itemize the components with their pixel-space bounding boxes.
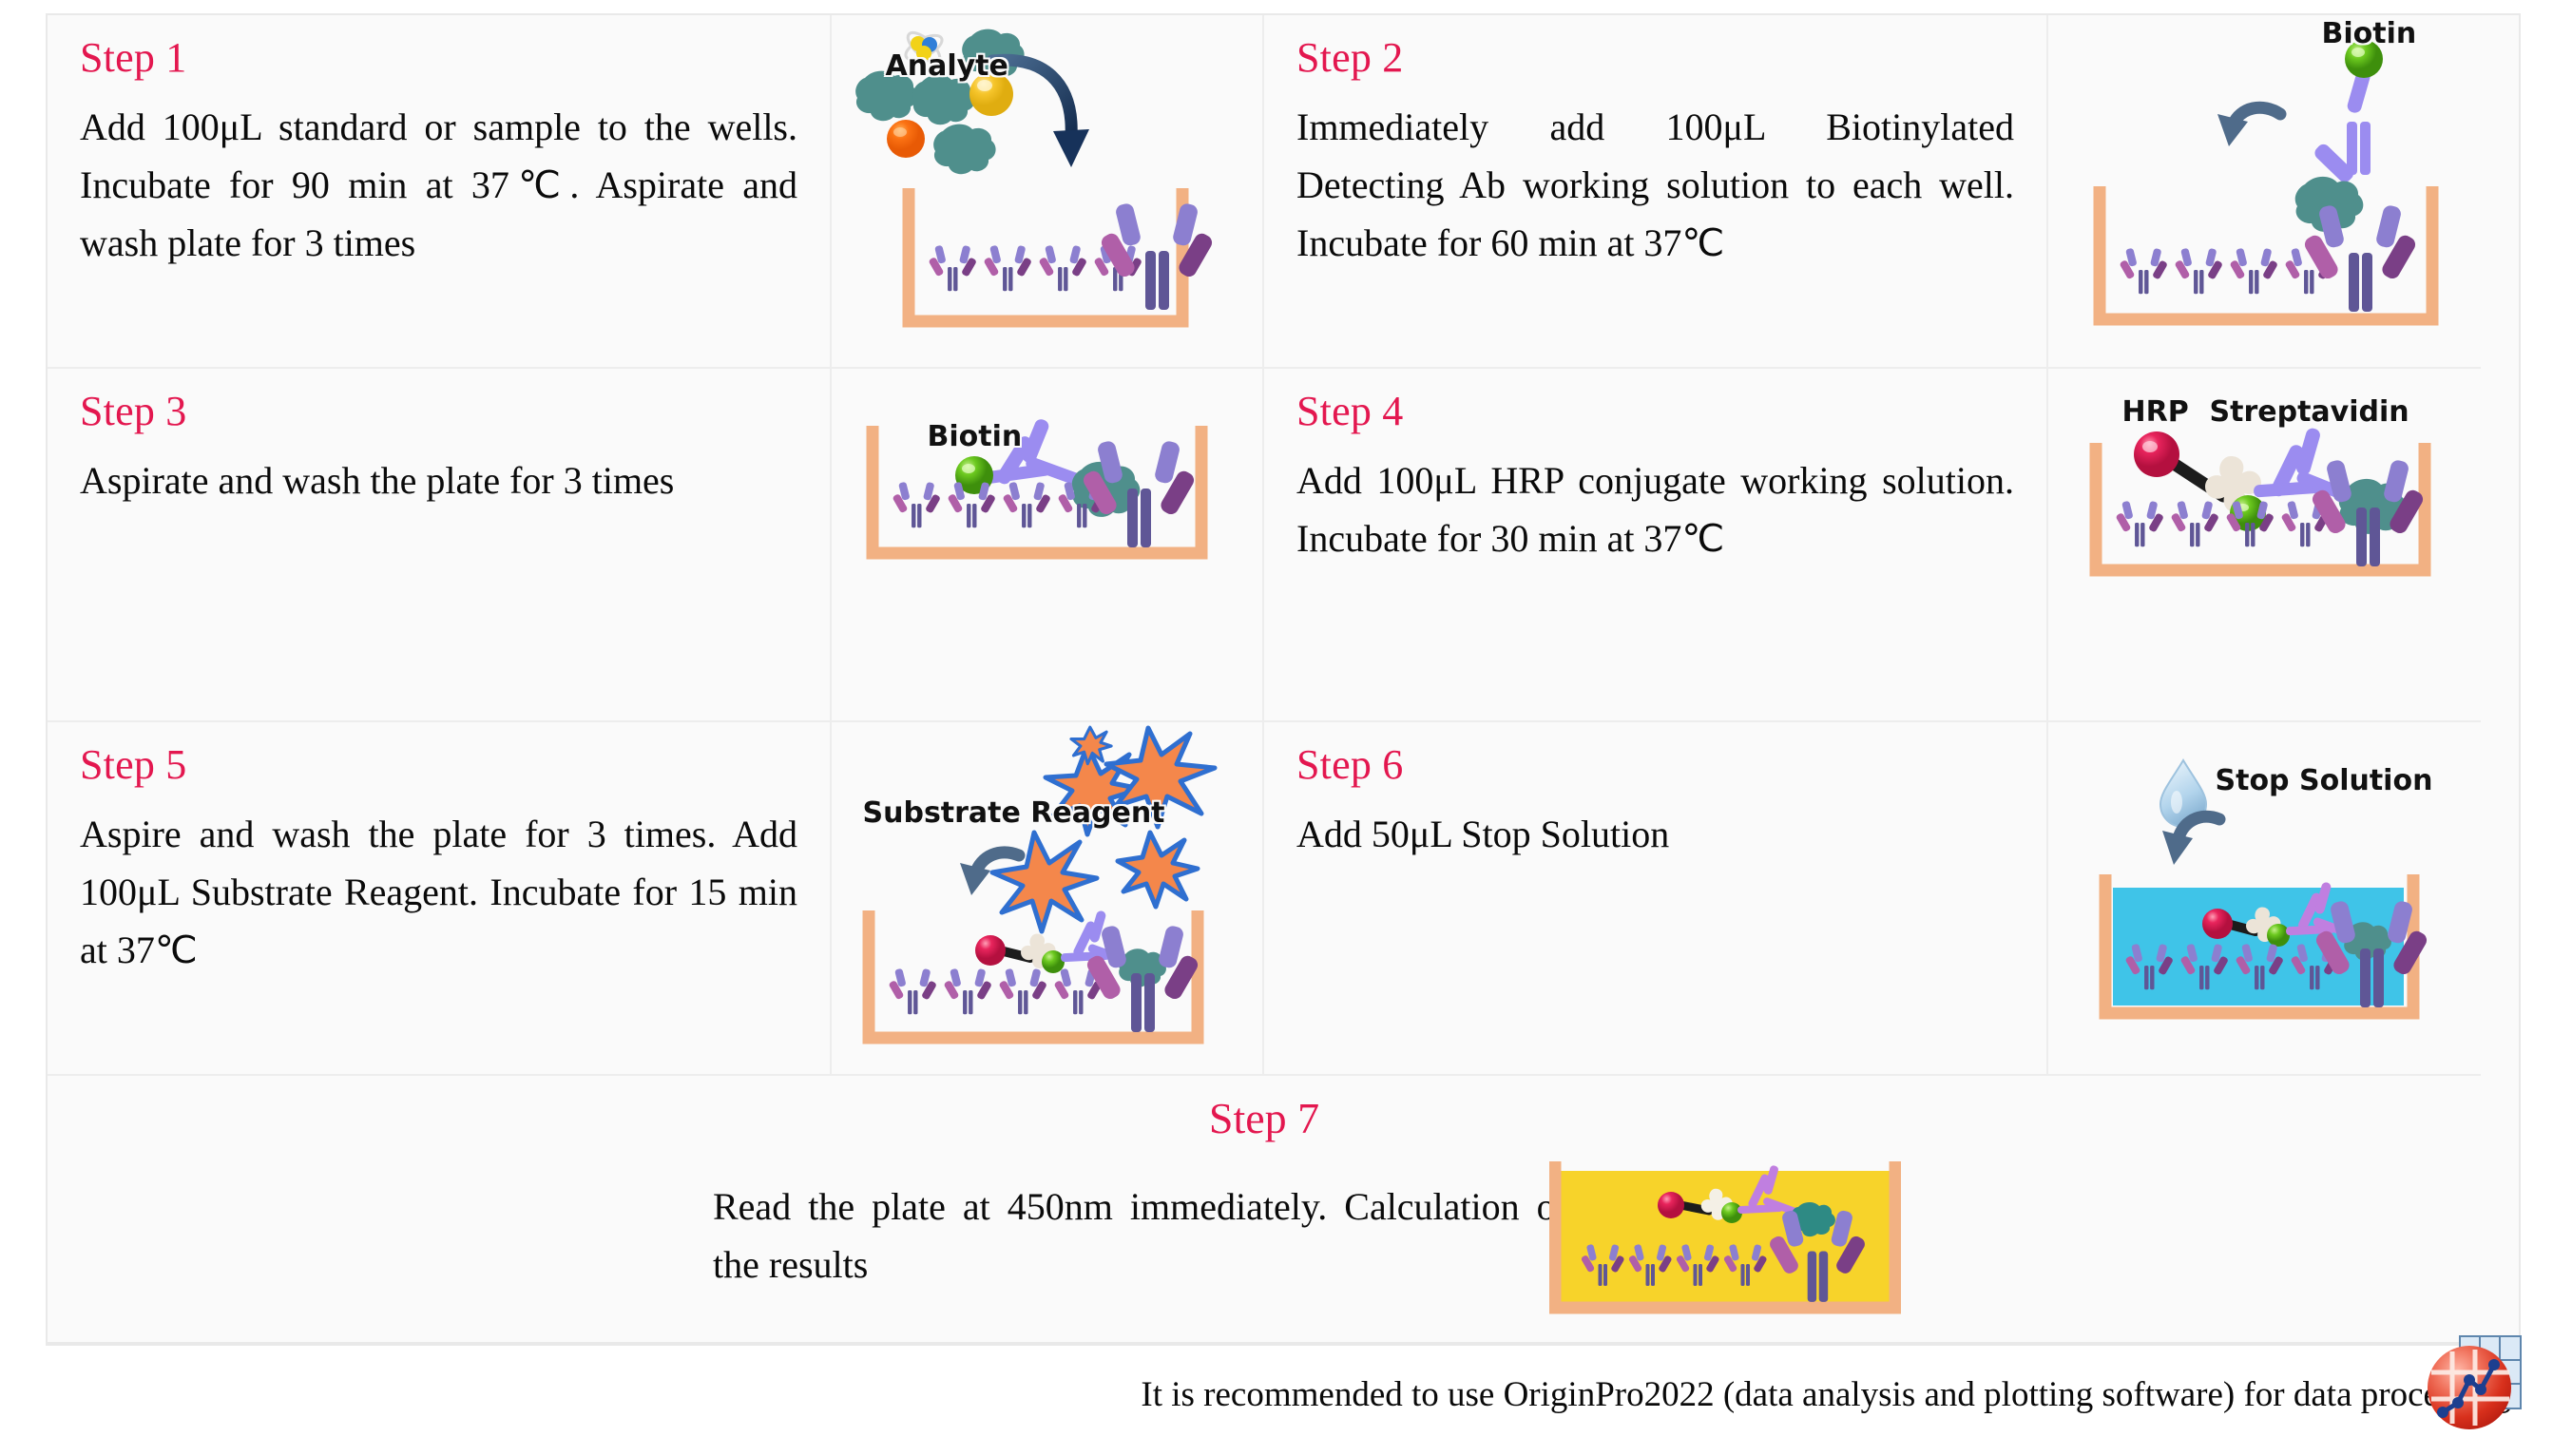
step-4-title: Step 4: [1296, 390, 2014, 433]
hrp-label: HRP: [2122, 395, 2189, 429]
step-5-illustration-cell: Substrate Reagent: [832, 722, 1264, 1076]
step-3-title: Step 3: [80, 390, 797, 433]
step-2-body: Immediately add 100μL Biotinylated Detec…: [1296, 99, 2014, 272]
step-3-svg: [848, 412, 1247, 698]
capture-antibodies: [2119, 204, 2418, 312]
elisa-procedure-sheet: Step 1 Add 100μL standard or sample to t…: [0, 0, 2553, 1456]
analyte-label: Analyte: [886, 49, 1008, 83]
step-2-text-cell: Step 2 Immediately add 100μL Biotinylate…: [1264, 15, 2048, 369]
step-5-svg: [848, 722, 1247, 1076]
step-3-illustration-cell: Biotin: [832, 369, 1264, 722]
substrate-reagent-label: Substrate Reagent: [863, 796, 1165, 830]
step-4-body: Add 100μL HRP conjugate working solution…: [1296, 452, 2014, 568]
step-1-title: Step 1: [80, 36, 797, 80]
step-3-body: Aspirate and wash the plate for 3 times: [80, 452, 797, 510]
curved-left-arrow-icon: [2217, 107, 2280, 146]
step-1-text-cell: Step 1 Add 100μL standard or sample to t…: [48, 15, 832, 369]
hrp-sphere: [975, 935, 1006, 966]
step-2-svg: [2065, 15, 2465, 357]
step-6-svg: [2065, 755, 2465, 1068]
steps-grid: Step 1 Add 100μL standard or sample to t…: [46, 13, 2521, 1344]
stop-solution-label: Stop Solution: [2216, 764, 2433, 797]
step-4-illustration-cell: HRP Streptavidin: [2048, 369, 2481, 722]
plate-reading-illustration: [1549, 1158, 1901, 1320]
step-7-title: Step 7: [48, 1093, 2481, 1143]
step-6-text-cell: Step 6 Add 50μL Stop Solution: [1264, 722, 2048, 1076]
step-2-illustration-cell: Biotin: [2048, 15, 2481, 369]
step-3-text-cell: Step 3 Aspirate and wash the plate for 3…: [48, 369, 832, 722]
step-5-title: Step 5: [80, 743, 797, 787]
footer-note: It is recommended to use OriginPro2022 (…: [1141, 1377, 2521, 1412]
hrp-streptavidin-complex-illustration: HRP Streptavidin: [2065, 409, 2465, 722]
analyte-addition-well-illustration: Analyte: [848, 15, 1247, 357]
substrate-reagent-addition-illustration: Substrate Reagent: [848, 722, 1247, 1076]
hrp-sphere: [2202, 909, 2233, 939]
footer-bar: It is recommended to use OriginPro2022 (…: [46, 1344, 2521, 1443]
biotin-sphere: [2267, 924, 2290, 947]
bound-analyte: [1118, 948, 1165, 987]
step-7-svg: [1549, 1158, 1901, 1315]
biotin-label: Biotin: [928, 420, 1023, 453]
hrp-sphere: [1658, 1192, 1684, 1218]
biotinylated-antibody-addition-illustration: Biotin: [2065, 15, 2465, 357]
biotin-label: Biotin: [2322, 17, 2417, 50]
step-4-text-cell: Step 4 Add 100μL HRP conjugate working s…: [1264, 369, 2048, 722]
streptavidin-label: Streptavidin: [2210, 395, 2409, 429]
step-7-cell: Step 7 Read the plate at 450nm immediate…: [48, 1076, 2481, 1342]
step-6-title: Step 6: [1296, 743, 2014, 787]
capture-antibodies: [892, 440, 1197, 547]
step-6-illustration-cell: Stop Solution: [2048, 722, 2481, 1076]
biotin-bound-complex-illustration: Biotin: [848, 412, 1247, 722]
step-5-text-cell: Step 5 Aspire and wash the plate for 3 t…: [48, 722, 832, 1076]
large-capture-antibody: [1099, 202, 1215, 310]
capture-antibodies: [928, 202, 1215, 310]
step-5-body: Aspire and wash the plate for 3 times. A…: [80, 806, 797, 979]
stop-solution-addition-illustration: Stop Solution: [2065, 755, 2465, 1076]
step-6-body: Add 50μL Stop Solution: [1296, 806, 2014, 864]
step-7-body: Read the plate at 450nm immediately. Cal…: [713, 1178, 1568, 1294]
biotinylated-detecting-antibody: [2312, 63, 2372, 184]
step-1-illustration-cell: Analyte: [832, 15, 1264, 369]
hrp-sphere: [2134, 431, 2179, 477]
originpro-logo: [2422, 1331, 2528, 1437]
analyte-sphere-orange: [887, 120, 925, 158]
step-1-body: Add 100μL standard or sample to the well…: [80, 99, 797, 272]
microplate-well: [909, 188, 1182, 321]
step-2-title: Step 2: [1296, 36, 2014, 80]
biotin-sphere: [1042, 950, 1065, 973]
step-4-svg: [2065, 409, 2465, 694]
